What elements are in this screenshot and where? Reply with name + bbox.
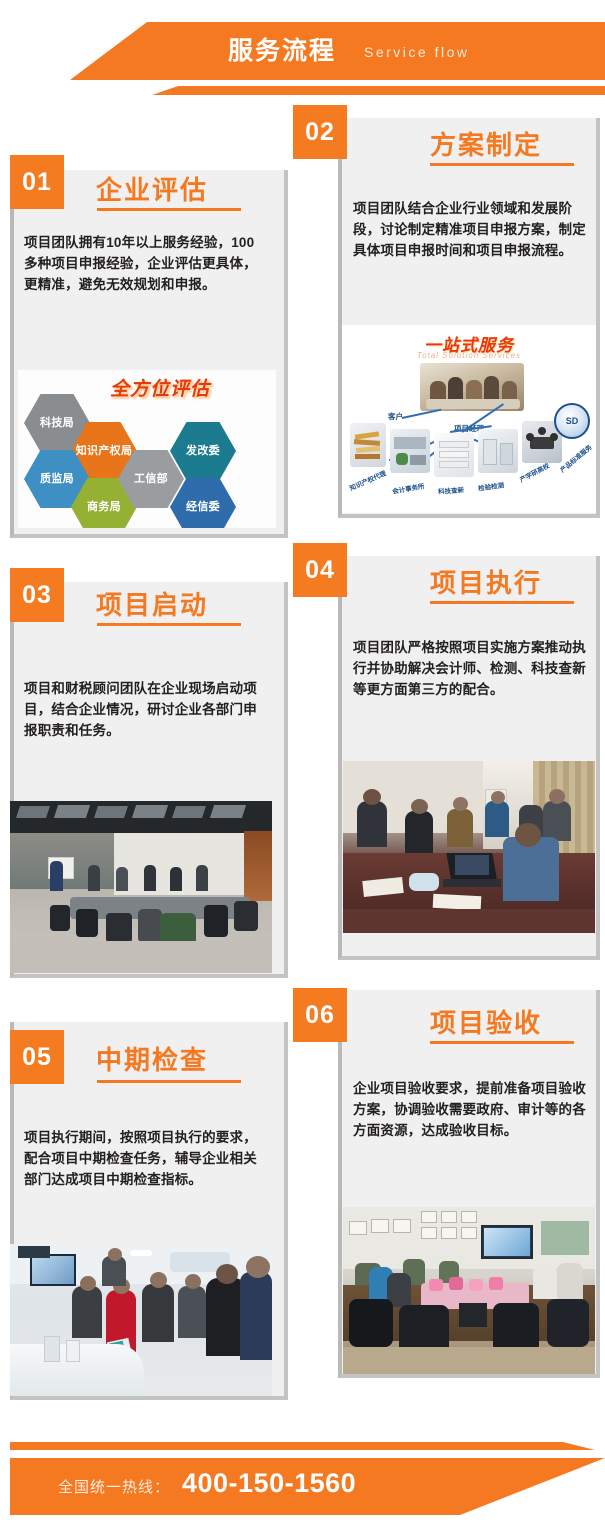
card-06-photo <box>343 1207 595 1374</box>
onestop-subtitle: Total Solution Services <box>417 351 521 360</box>
card-01-description: 项目团队拥有10年以上服务经验，100多种项目申报经验，企业评估更具体，更精准，… <box>24 232 264 295</box>
hex-node-fagaiwei: 发改委 <box>170 422 236 480</box>
card-01-hexagon-figure: 全方位评估 科技局 知识产权局 质监局 商务局 工信部 发改委 经信委 <box>18 370 276 528</box>
onestop-service-label: 知识产权代理 <box>348 468 388 493</box>
card-03-description: 项目和财税顾问团队在企业现场启动项目，结合企业情况，研讨企业各部门申报职责和任务… <box>24 678 264 741</box>
card-03-title: 项目启动 <box>96 585 208 622</box>
card-06-description: 企业项目验收要求，提前准备项目验收方案，协调验收需要政府、审计等的各方面资源，达… <box>353 1078 589 1141</box>
onestop-service-label: 产品标准服务 <box>557 442 593 475</box>
onestop-thumb-accounting <box>390 429 430 473</box>
onestop-service-label: 产学研高校 <box>518 460 551 484</box>
hex-node-label: 科技局 <box>40 417 74 430</box>
card-06-title-rule <box>430 1041 574 1044</box>
hexagon-figure-title: 全方位评估 <box>110 374 210 401</box>
card-05-number-badge: 05 <box>10 1030 64 1084</box>
card-01-title: 企业评估 <box>96 170 208 207</box>
seal-text: SD <box>566 416 579 426</box>
card-04-title: 项目执行 <box>430 563 542 600</box>
card-06-number-badge: 06 <box>293 988 347 1042</box>
card-04-number-badge: 04 <box>293 543 347 597</box>
card-02-description: 项目团队结合企业行业领域和发展阶段，讨论制定精准项目申报方案，制定具体项目申报时… <box>353 198 589 261</box>
onestop-service-label: 科技查新 <box>438 484 465 496</box>
onestop-thumb-ip <box>350 423 386 467</box>
page-header: 服务流程 Service flow <box>0 0 605 112</box>
card-03-title-rule <box>97 623 241 626</box>
card-04-description: 项目团队严格按照项目实施方案推动执行并协助解决会计师、检测、科技查新等更方面第三… <box>353 637 589 700</box>
hex-node-label: 知识产权局 <box>76 445 133 458</box>
card-05-title-rule <box>97 1080 241 1083</box>
onestop-service-label: 会计事务所 <box>391 480 425 495</box>
card-04-photo <box>343 761 595 933</box>
onestop-thumb-inspection <box>478 429 518 473</box>
hex-node-label: 商务局 <box>87 501 121 514</box>
header-orange-stripe <box>0 86 605 95</box>
card-02-onestop-figure: 一站式服务 Total Solution Services 客户 项目经理 <box>342 325 596 513</box>
onestop-thumb-sci-search <box>434 433 474 477</box>
hotline-number[interactable]: 400-150-1560 <box>182 1468 356 1499</box>
card-01-number-badge: 01 <box>10 155 64 209</box>
hex-node-label: 发改委 <box>186 445 220 458</box>
card-02-title: 方案制定 <box>430 125 542 162</box>
card-02-number-badge: 02 <box>293 105 347 159</box>
page-footer: 全国统一热线： 400-150-1560 <box>0 1424 605 1538</box>
hex-node-label: 经信委 <box>186 501 220 514</box>
card-05-photo <box>10 1244 272 1396</box>
page-title: 服务流程 <box>228 32 336 70</box>
card-02-title-rule <box>430 163 574 166</box>
onestop-certification-seal: SD <box>554 403 590 439</box>
card-01-title-rule <box>97 208 241 211</box>
hotline-label: 全国统一热线： <box>58 1476 170 1497</box>
footer-orange-stripe <box>10 1442 595 1450</box>
onestop-service-label: 检验检测 <box>477 479 504 493</box>
hex-node-label: 质监局 <box>40 473 74 486</box>
card-05-description: 项目执行期间，按照项目执行的要求，配合项目中期检查任务，辅导企业相关部门达成项目… <box>24 1127 264 1190</box>
hex-node-label: 工信部 <box>134 473 168 486</box>
page-subtitle: Service flow <box>364 40 469 64</box>
card-03-photo <box>10 801 272 973</box>
card-04-title-rule <box>430 601 574 604</box>
card-05-title: 中期检查 <box>96 1040 208 1077</box>
onestop-center-photo <box>420 363 524 411</box>
card-06-title: 项目验收 <box>430 1003 542 1040</box>
card-03-number-badge: 03 <box>10 568 64 622</box>
